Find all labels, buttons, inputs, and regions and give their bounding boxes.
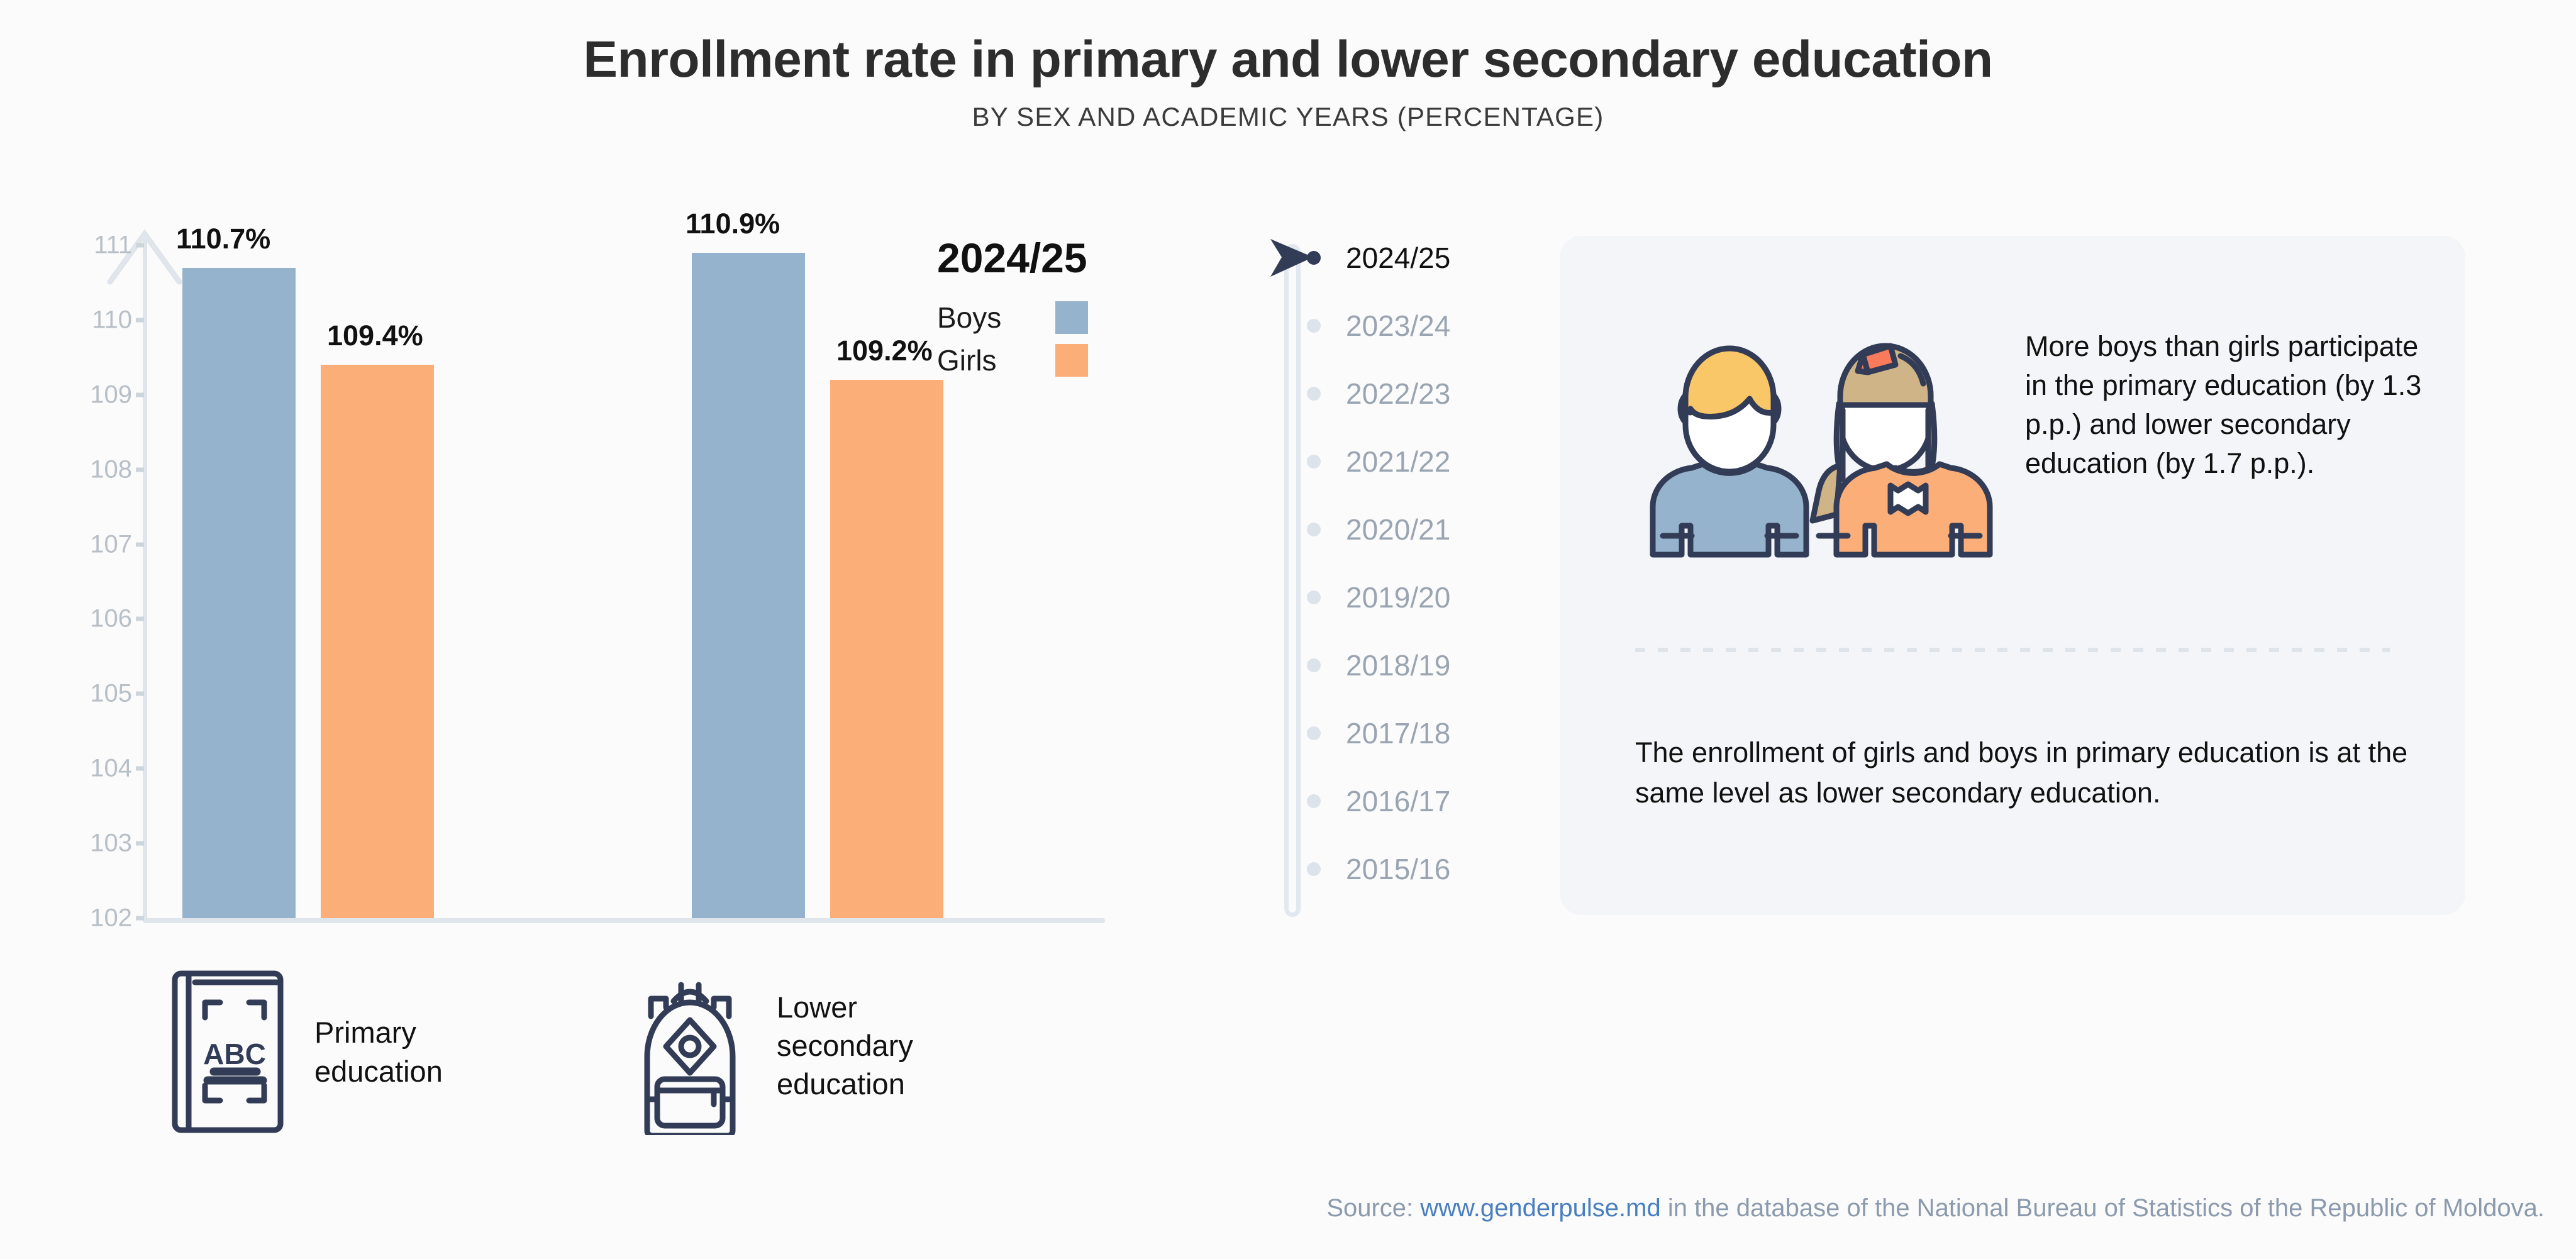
- year-item-2018-19[interactable]: 2018/19: [1307, 648, 1450, 683]
- legend-label-boys: Boys: [937, 301, 1001, 335]
- bar-value-label: 109.4%: [327, 319, 423, 352]
- y-axis-tick-mark: [136, 392, 144, 397]
- year-label: 2024/25: [1346, 241, 1450, 275]
- year-label: 2019/20: [1346, 580, 1450, 614]
- year-label: 2016/17: [1346, 784, 1450, 818]
- year-dot: [1307, 455, 1321, 469]
- bar-value-label: 110.9%: [686, 208, 780, 240]
- bar-value-label: 110.7%: [176, 223, 270, 255]
- year-item-2016-17[interactable]: 2016/17: [1307, 784, 1450, 819]
- year-item-2015-16[interactable]: 2015/16: [1307, 851, 1450, 887]
- year-dot: [1307, 251, 1321, 265]
- year-label: 2017/18: [1346, 716, 1450, 750]
- infographic-root: Enrollment rate in primary and lower sec…: [0, 0, 2576, 1259]
- y-axis-tick-mark: [136, 841, 144, 846]
- year-label: 2018/19: [1346, 648, 1450, 682]
- year-label: 2015/16: [1346, 852, 1450, 886]
- y-axis-tick-label: 111: [38, 231, 132, 260]
- legend-label-girls: Girls: [937, 343, 997, 377]
- y-axis-tick-label: 110: [38, 306, 132, 334]
- y-axis-line: [143, 231, 147, 918]
- y-axis-tick-mark: [136, 243, 144, 248]
- backpack-icon: [632, 962, 748, 1129]
- year-item-2019-20[interactable]: 2019/20: [1307, 580, 1450, 615]
- y-axis-tick-label: 104: [38, 755, 132, 783]
- y-axis-tick-mark: [136, 916, 144, 921]
- year-dot: [1307, 658, 1321, 672]
- y-axis-tick-mark: [136, 692, 144, 696]
- y-axis-tick-mark: [136, 542, 144, 546]
- panel-divider: [1635, 648, 2390, 652]
- category-primary-education[interactable]: ABC Primary education: [170, 968, 443, 1135]
- panel-note-text: More boys than girls participate in the …: [2025, 327, 2440, 483]
- year-item-2020-21[interactable]: 2020/21: [1307, 512, 1450, 547]
- page-subtitle: BY SEX AND ACADEMIC YEARS (PERCENTAGE): [0, 102, 2576, 132]
- year-dot: [1307, 387, 1321, 401]
- y-axis-tick-label: 102: [38, 904, 132, 933]
- year-scroll-track[interactable]: [1284, 244, 1301, 917]
- year-dot: [1307, 794, 1321, 808]
- year-item-2021-22[interactable]: 2021/22: [1307, 444, 1450, 479]
- svg-text:ABC: ABC: [203, 1038, 266, 1070]
- y-axis-tick-mark: [136, 318, 144, 322]
- legend-item-girls[interactable]: Girls: [937, 343, 1088, 377]
- y-axis-tick-label: 109: [38, 380, 132, 409]
- y-axis-tick-label: 105: [38, 680, 132, 708]
- year-item-2017-18[interactable]: 2017/18: [1307, 716, 1450, 751]
- year-dot: [1307, 591, 1321, 604]
- source-link[interactable]: www.genderpulse.md: [1420, 1194, 1660, 1222]
- year-dot: [1307, 319, 1321, 333]
- chart-legend: 2024/25 Boys Girls: [937, 234, 1201, 386]
- category-label-lower-secondary: Lower secondary education: [777, 988, 913, 1103]
- year-item-2024-25[interactable]: 2024/25: [1307, 240, 1450, 275]
- year-label: 2020/21: [1346, 513, 1450, 546]
- source-suffix: in the database of the National Bureau o…: [1661, 1194, 2545, 1222]
- y-axis-tick-mark: [136, 767, 144, 771]
- source-note: Source: www.genderpulse.md in the databa…: [1326, 1194, 2545, 1223]
- bar-boys-1[interactable]: [182, 268, 296, 918]
- source-prefix: Source:: [1326, 1194, 1420, 1222]
- y-axis-tick-label: 106: [38, 605, 132, 633]
- boy-and-girl-icon: [1641, 314, 1994, 579]
- legend-item-boys[interactable]: Boys: [937, 301, 1088, 335]
- year-dot: [1307, 726, 1321, 740]
- year-label: 2022/23: [1346, 377, 1450, 411]
- year-label: 2021/22: [1346, 445, 1450, 479]
- year-item-2022-23[interactable]: 2022/23: [1307, 376, 1450, 411]
- year-dot: [1307, 862, 1321, 876]
- year-selector[interactable]: 2024/252023/242022/232021/222020/212019/…: [1270, 233, 1535, 924]
- y-axis-tick-label: 108: [38, 455, 132, 484]
- y-axis-tick-label: 107: [38, 530, 132, 558]
- y-axis-tick-label: 103: [38, 829, 132, 858]
- category-lower-secondary-education[interactable]: Lower secondary education: [632, 962, 913, 1129]
- year-dot: [1307, 523, 1321, 536]
- bar-girls-2[interactable]: [830, 380, 943, 918]
- legend-year-label: 2024/25: [937, 234, 1201, 282]
- x-axis-line: [143, 918, 1105, 923]
- book-abc-icon: ABC: [170, 968, 286, 1135]
- bar-girls-1[interactable]: [321, 365, 434, 918]
- category-label-primary: Primary education: [314, 1013, 443, 1090]
- year-label: 2023/24: [1346, 309, 1450, 343]
- page-title: Enrollment rate in primary and lower sec…: [0, 30, 2576, 89]
- legend-swatch-boys: [1055, 301, 1088, 334]
- year-item-2023-24[interactable]: 2023/24: [1307, 308, 1450, 343]
- panel-secondary-text: The enrollment of girls and boys in prim…: [1635, 733, 2421, 813]
- y-axis-tick-mark: [136, 617, 144, 621]
- bar-value-label: 109.2%: [836, 335, 933, 367]
- y-axis-tick-mark: [136, 467, 144, 472]
- info-panel: More boys than girls participate in the …: [1560, 236, 2465, 915]
- bar-boys-2[interactable]: [692, 253, 805, 918]
- legend-swatch-girls: [1055, 344, 1088, 377]
